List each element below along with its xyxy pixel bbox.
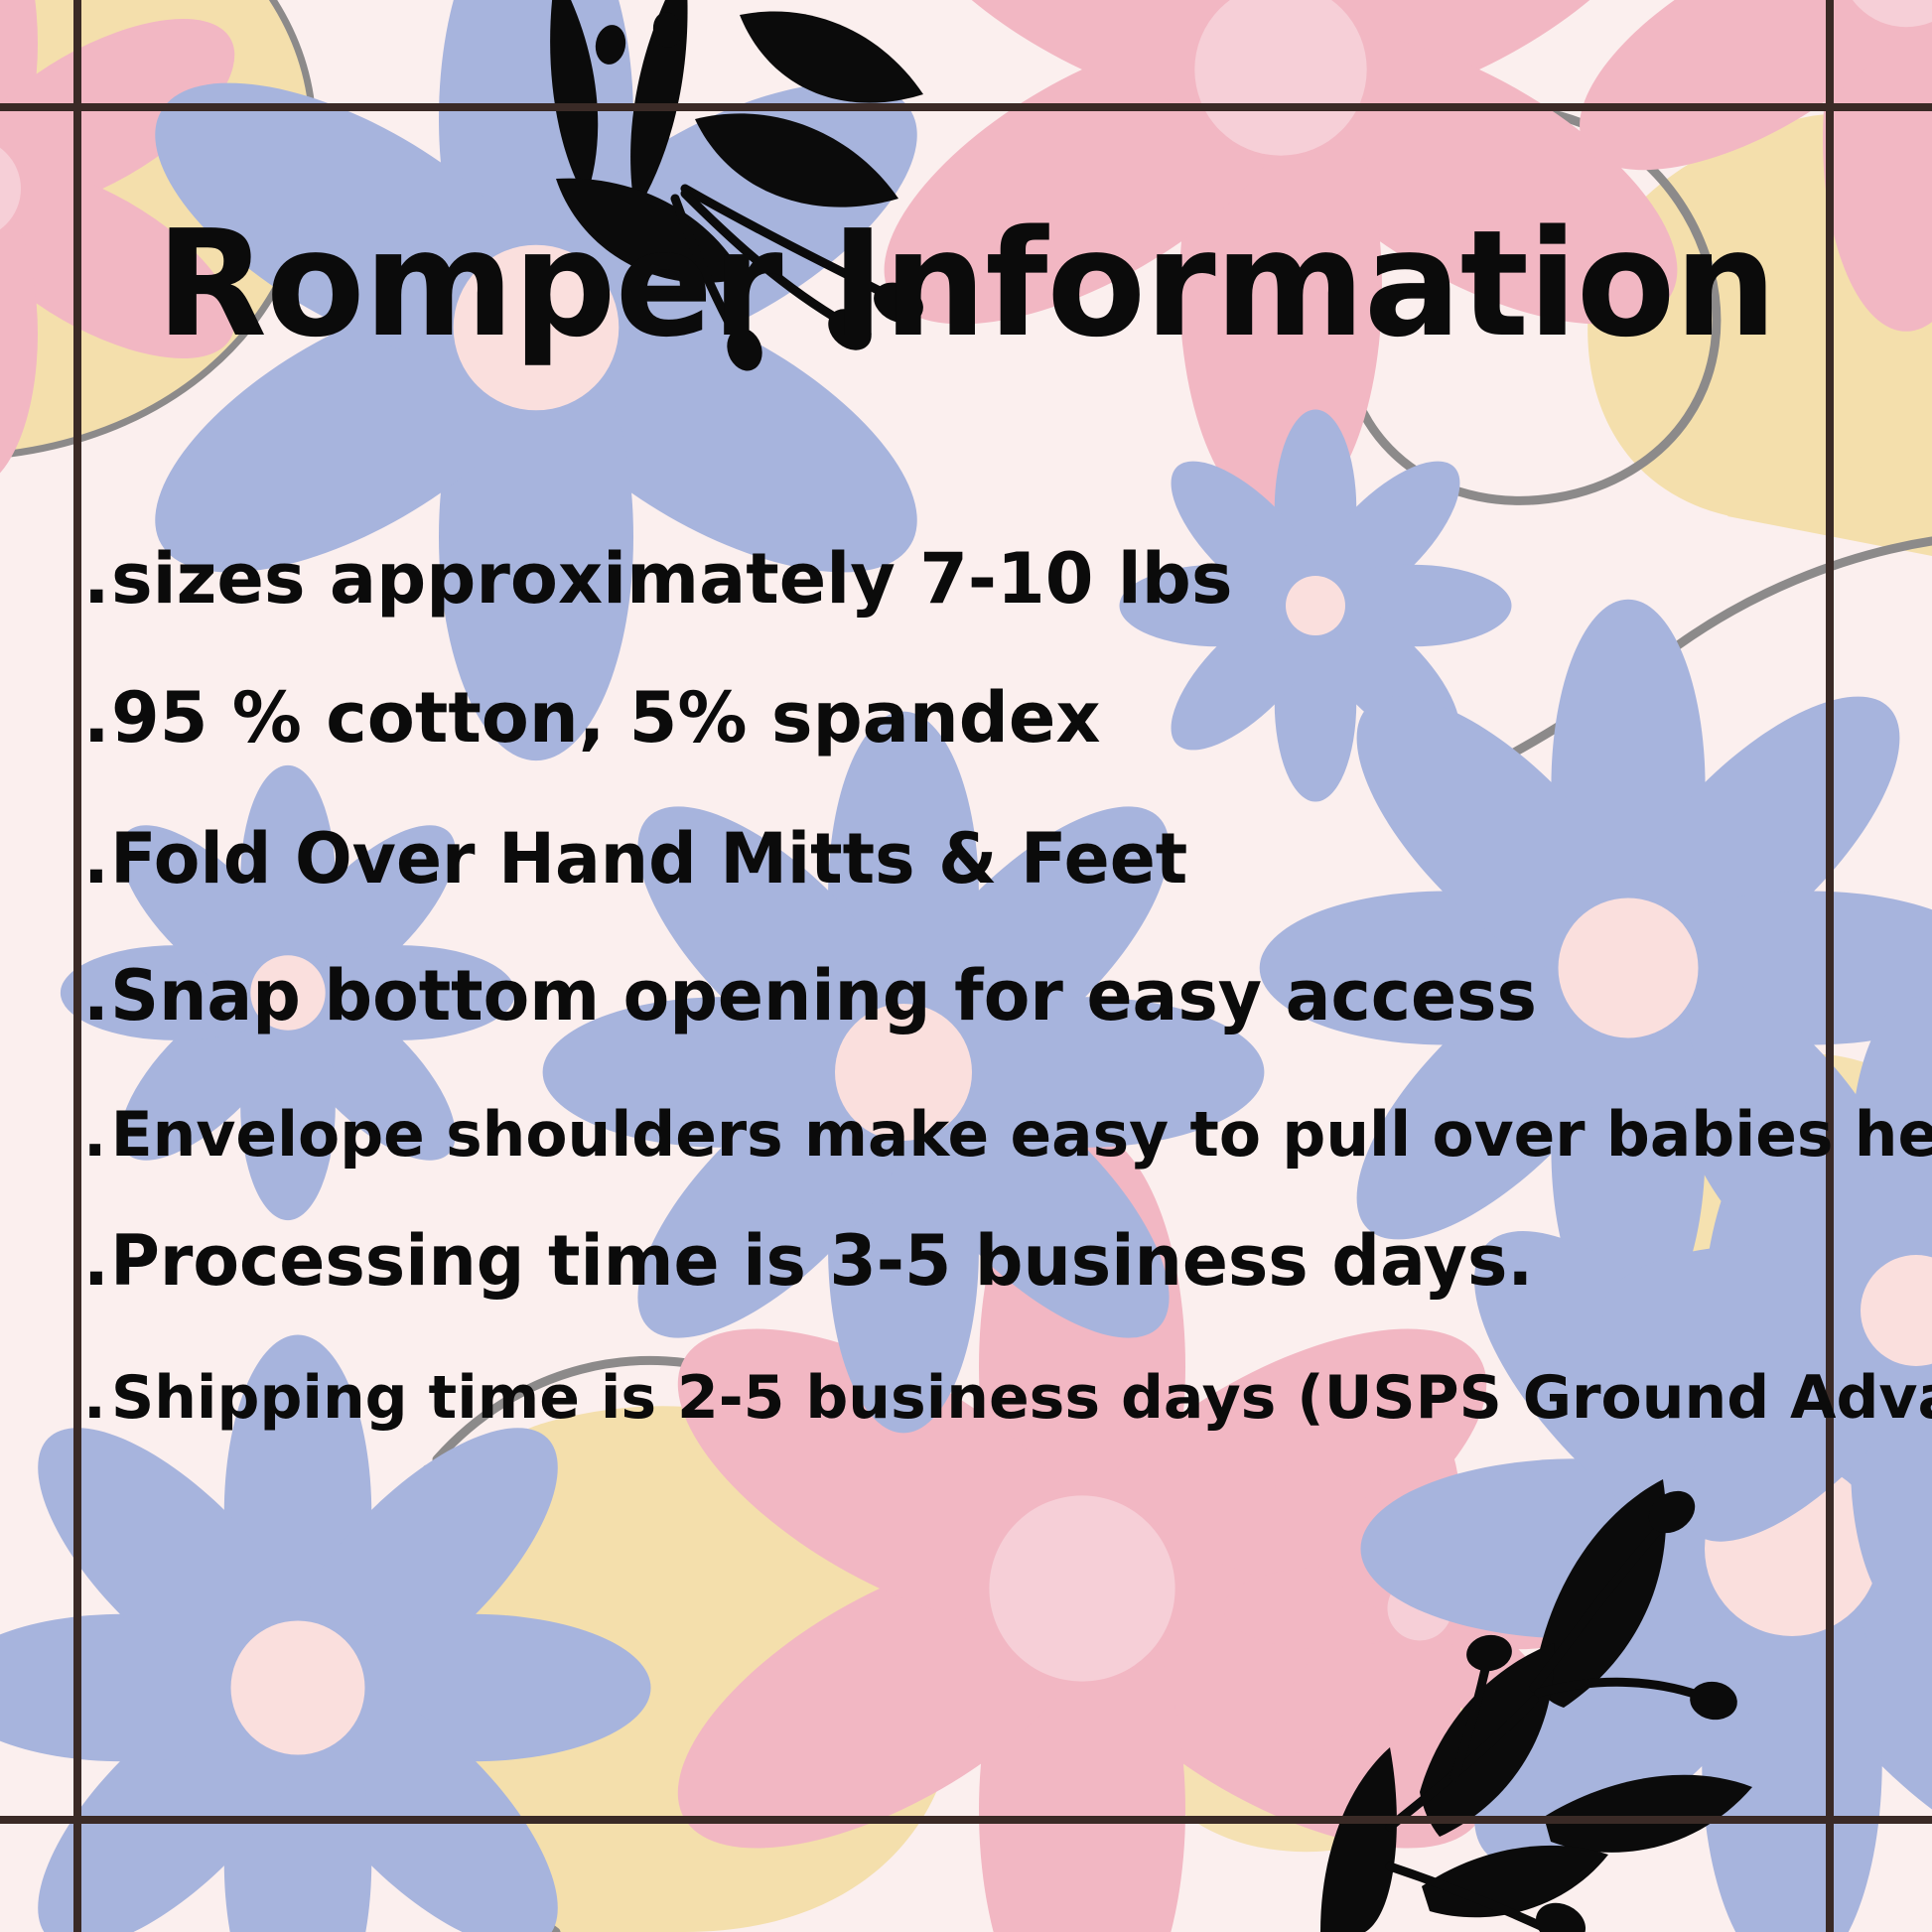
poster-canvas: Romper Information . sizes approximately… — [0, 0, 1932, 1932]
list-item: . Processing time is 3-5 business days. — [83, 1220, 1856, 1302]
list-item: . Shipping time is 2-5 business days (US… — [83, 1363, 1910, 1433]
bullet-marker: . — [83, 955, 110, 1036]
list-item: . sizes approximately 7-10 lbs — [83, 538, 1910, 620]
bullet-text: Shipping time is 2-5 business days (USPS… — [111, 1363, 1932, 1433]
bullet-marker: . — [83, 818, 110, 899]
list-item: . Envelope shoulders make easy to pull o… — [83, 1098, 1892, 1171]
bullet-text: Fold Over Hand Mitts & Feet — [110, 818, 1187, 899]
bullet-text: Envelope shoulders make easy to pull ove… — [111, 1098, 1932, 1171]
page-title: Romper Information — [19, 210, 1912, 357]
list-item: . Fold Over Hand Mitts & Feet — [83, 818, 1856, 899]
bullet-marker: . — [83, 677, 111, 759]
list-item: . 95 % cotton, 5% spandex — [83, 677, 1910, 759]
bullet-marker: . — [83, 538, 111, 620]
bullet-marker: . — [83, 1098, 111, 1171]
bullet-text: Processing time is 3-5 business days. — [110, 1220, 1533, 1302]
bullet-marker: . — [83, 1220, 110, 1302]
info-bullet-list: . sizes approximately 7-10 lbs . 95 % co… — [83, 538, 1910, 1433]
bullet-marker: . — [83, 1363, 111, 1433]
bullet-text: sizes approximately 7-10 lbs — [111, 538, 1233, 620]
list-item: . Snap bottom opening for easy access — [83, 955, 1856, 1036]
bullet-text: 95 % cotton, 5% spandex — [111, 677, 1100, 759]
bullet-text: Snap bottom opening for easy access — [110, 955, 1537, 1036]
poster-content: Romper Information . sizes approximately… — [0, 0, 1932, 1932]
